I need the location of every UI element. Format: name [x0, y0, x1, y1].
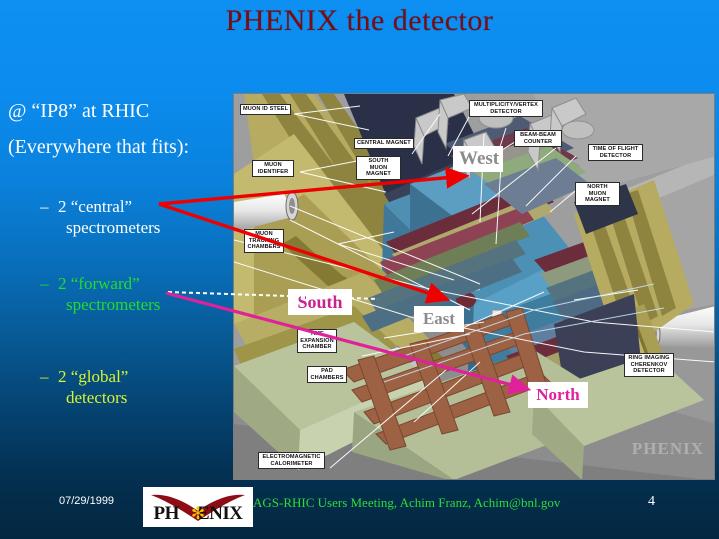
page-title: PHENIX the detector: [0, 4, 719, 38]
phenix-detector-figure: MUON ID STEEL MUON IDENTIFER MUON TRACKI…: [233, 93, 715, 480]
callout-ring-imaging-cherenkov-detector: RING IMAGING CHERENKOV DETECTOR: [624, 353, 674, 377]
callout-beam-beam-counter: BEAM-BEAM COUNTER: [514, 130, 562, 147]
bullet-global-detectors: –2 “global” detectors: [40, 366, 128, 408]
footer-meeting-info: AGS-RHIC Users Meeting, Achim Franz, Ach…: [253, 495, 560, 511]
bullet-dash: –: [40, 366, 58, 387]
callout-electromagnetic-calorimeter: ELECTROMAGNETIC CALORIMETER: [258, 452, 325, 469]
bullet-line-1: 2 “forward”: [58, 274, 140, 293]
callout-muon-identifier: MUON IDENTIFER: [252, 160, 294, 177]
lead-line-1: @ “IP8” at RHIC: [8, 100, 149, 123]
callout-muon-id-steel: MUON ID STEEL: [240, 104, 291, 115]
bullet-line-1: 2 “central”: [58, 197, 132, 216]
direction-label-south: South: [288, 289, 352, 315]
bullet-central-spectrometers: –2 “central” spectrometers: [40, 196, 160, 238]
callout-pad-chambers: PAD CHAMBERS: [307, 366, 347, 383]
direction-label-east: East: [414, 306, 464, 332]
callout-south-muon-magnet: SOUTH MUON MAGNET: [356, 156, 401, 180]
footer-date: 07/29/1999: [59, 495, 114, 507]
callout-muon-tracking-chambers: MUON TRACKING CHAMBERS: [244, 229, 284, 253]
callout-central-magnet: CENTRAL MAGNET: [354, 138, 414, 149]
footer-page-number: 4: [648, 494, 655, 510]
direction-label-north: North: [528, 382, 588, 408]
bullet-line-1: 2 “global”: [58, 367, 128, 386]
presentation-slide: PHENIX the detector @ “IP8” at RHIC (Eve…: [0, 0, 719, 539]
bullet-line-2: spectrometers: [66, 217, 160, 238]
lead-line-2: (Everywhere that fits):: [8, 136, 189, 159]
callout-time-expansion-chamber: TIME EXPANSION CHAMBER: [297, 329, 337, 353]
bullet-forward-spectrometers: –2 “forward” spectrometers: [40, 273, 160, 315]
bullet-line-2: detectors: [66, 387, 128, 408]
direction-label-west: West: [453, 146, 503, 172]
phenix-watermark: PHENIX: [632, 439, 704, 459]
phenix-logo-starburst-icon: ✻: [190, 506, 206, 522]
callout-multiplicity-vertex-detector: MULTIPLICITY/VERTEX DETECTOR: [469, 100, 543, 117]
bullet-line-2: spectrometers: [66, 294, 160, 315]
phenix-logo: PH**ENIX ✻: [143, 487, 253, 527]
bullet-dash: –: [40, 196, 58, 217]
callout-north-muon-magnet: NORTH MUON MAGNET: [575, 182, 620, 206]
callout-time-of-flight-detector: TIME OF FLIGHT DETECTOR: [588, 144, 643, 161]
bullet-dash: –: [40, 273, 58, 294]
phenix-logo-ph: PH: [154, 503, 179, 524]
